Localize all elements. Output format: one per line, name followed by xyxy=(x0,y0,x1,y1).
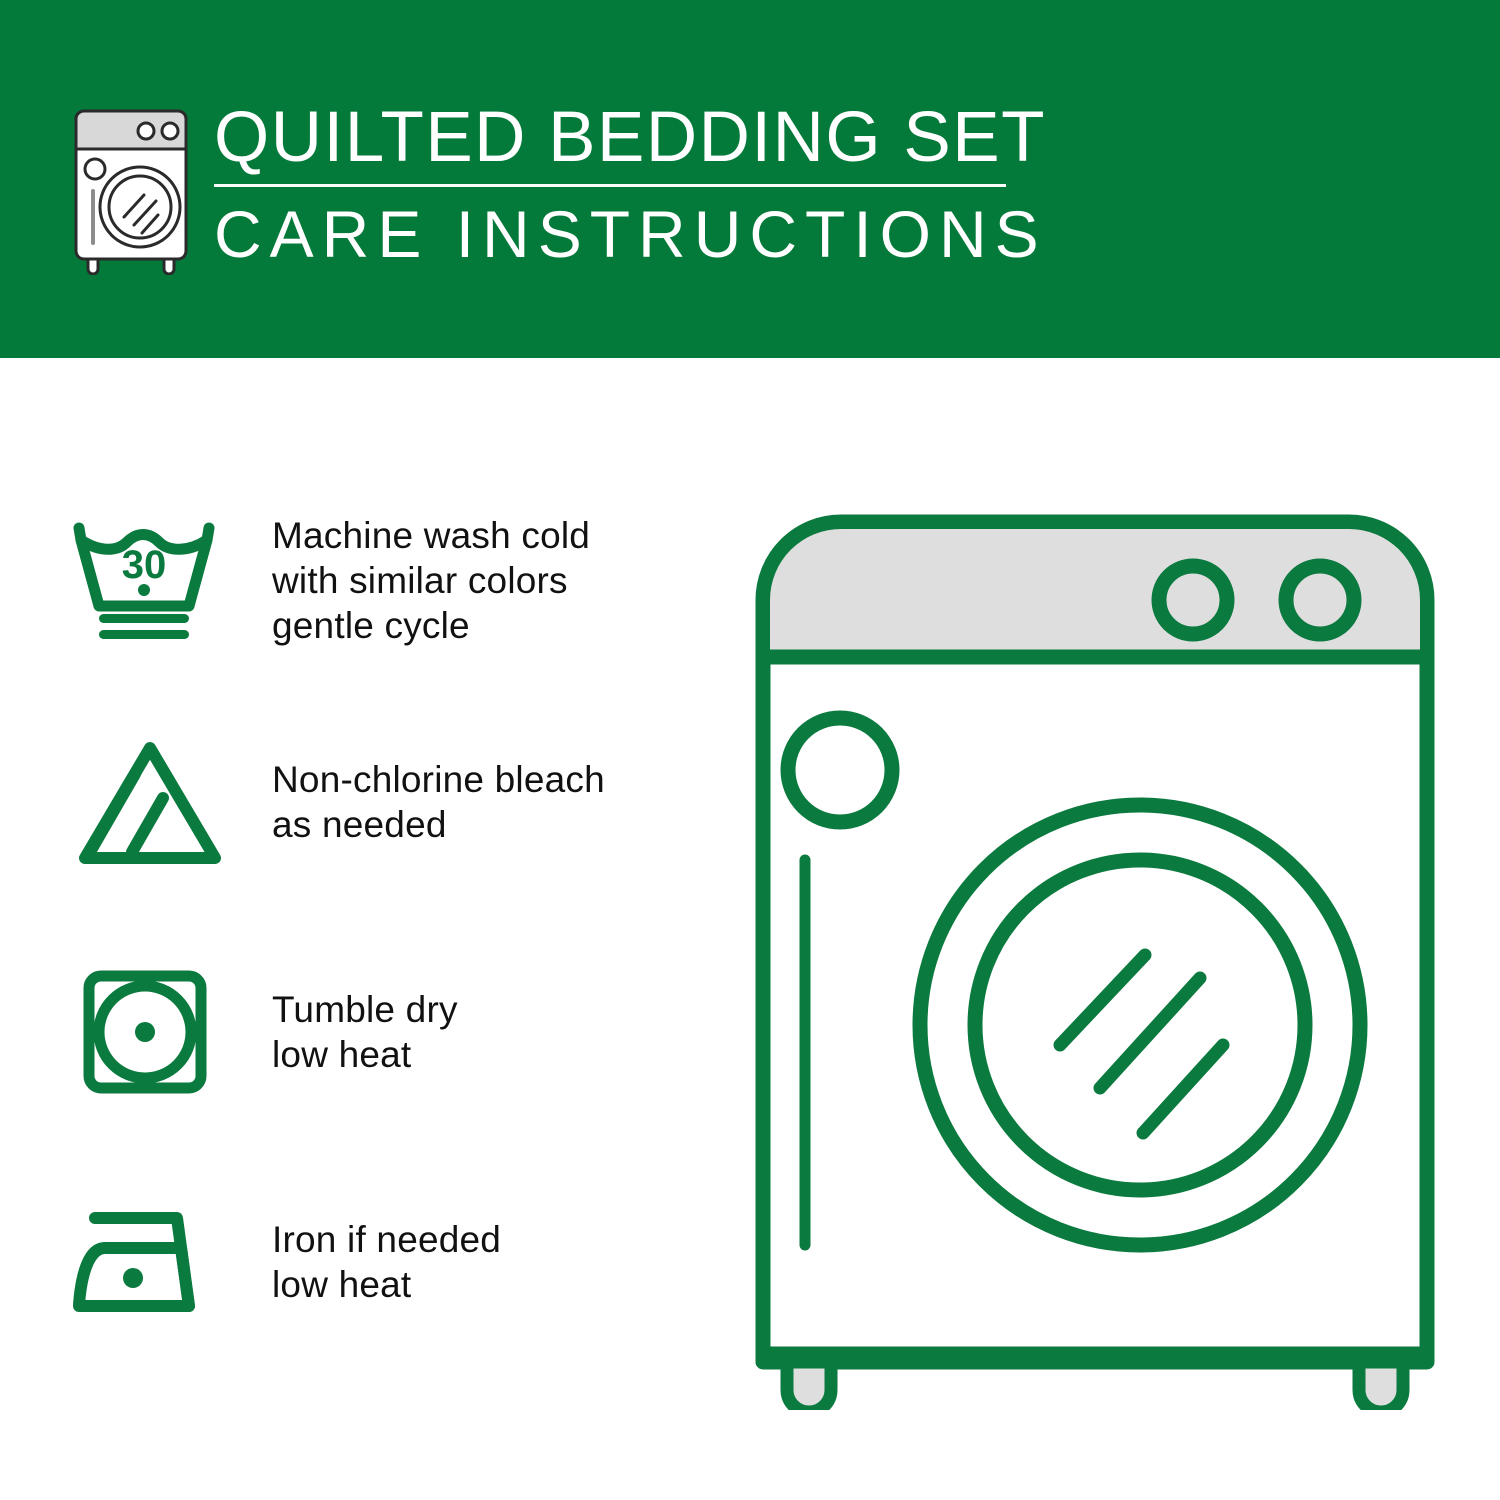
washing-machine-logo-icon xyxy=(62,103,210,275)
care-line: gentle cycle xyxy=(272,603,590,648)
care-item-iron: Iron if needed low heat xyxy=(0,1182,720,1342)
machine-leg-right xyxy=(1359,1362,1403,1410)
machine-leg-left xyxy=(787,1362,831,1410)
washing-machine-illustration xyxy=(745,505,1445,1410)
header-text-group: QUILTED BEDDING SET CARE INSTRUCTIONS xyxy=(214,98,1026,271)
care-line: with similar colors xyxy=(272,558,590,603)
care-instructions-page: QUILTED BEDDING SET CARE INSTRUCTIONS 30 xyxy=(0,0,1500,1500)
wash-tub-30-gentle-icon: 30 xyxy=(60,500,240,660)
care-item-tumble-dry: Tumble dry low heat xyxy=(0,952,720,1112)
care-item-bleach: Non-chlorine bleach as needed xyxy=(0,722,720,882)
iron-low-heat-icon xyxy=(60,1182,240,1342)
non-chlorine-bleach-triangle-icon xyxy=(60,722,240,882)
title-divider xyxy=(214,184,1006,187)
care-item-wash-text: Machine wash cold with similar colors ge… xyxy=(272,513,590,648)
care-item-wash: 30 Machine wash cold with similar colors… xyxy=(0,500,720,660)
header-banner: QUILTED BEDDING SET CARE INSTRUCTIONS xyxy=(0,0,1500,358)
page-subtitle: CARE INSTRUCTIONS xyxy=(214,197,1026,271)
care-line: Machine wash cold xyxy=(272,513,590,558)
care-item-bleach-text: Non-chlorine bleach as needed xyxy=(272,757,605,847)
care-line: Non-chlorine bleach xyxy=(272,757,605,802)
page-title: QUILTED BEDDING SET xyxy=(214,98,1026,178)
care-item-iron-text: Iron if needed low heat xyxy=(272,1217,501,1307)
care-line: low heat xyxy=(272,1032,458,1077)
wash-temperature-label: 30 xyxy=(122,543,167,587)
tumble-dry-low-icon xyxy=(60,952,240,1112)
care-item-tumble-dry-text: Tumble dry low heat xyxy=(272,987,458,1077)
care-line: Iron if needed xyxy=(272,1217,501,1262)
care-line: low heat xyxy=(272,1262,501,1307)
care-line: Tumble dry xyxy=(272,987,458,1032)
care-line: as needed xyxy=(272,802,605,847)
